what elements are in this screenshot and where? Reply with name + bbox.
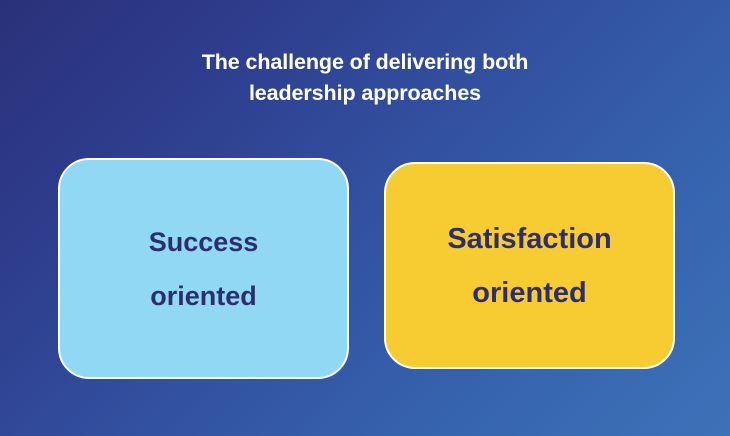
cards-row: Success oriented Satisfaction oriented (0, 0, 730, 436)
card-satisfaction-label-line-1: Satisfaction (447, 212, 611, 266)
slide-canvas: The challenge of delivering both leaders… (0, 0, 730, 436)
card-satisfaction-oriented[interactable]: Satisfaction oriented (384, 162, 675, 369)
card-satisfaction-label-line-2: oriented (472, 266, 586, 320)
card-success-oriented[interactable]: Success oriented (58, 158, 349, 379)
card-success-label-line-2: oriented (150, 269, 257, 323)
card-success-label-line-1: Success (149, 215, 259, 269)
